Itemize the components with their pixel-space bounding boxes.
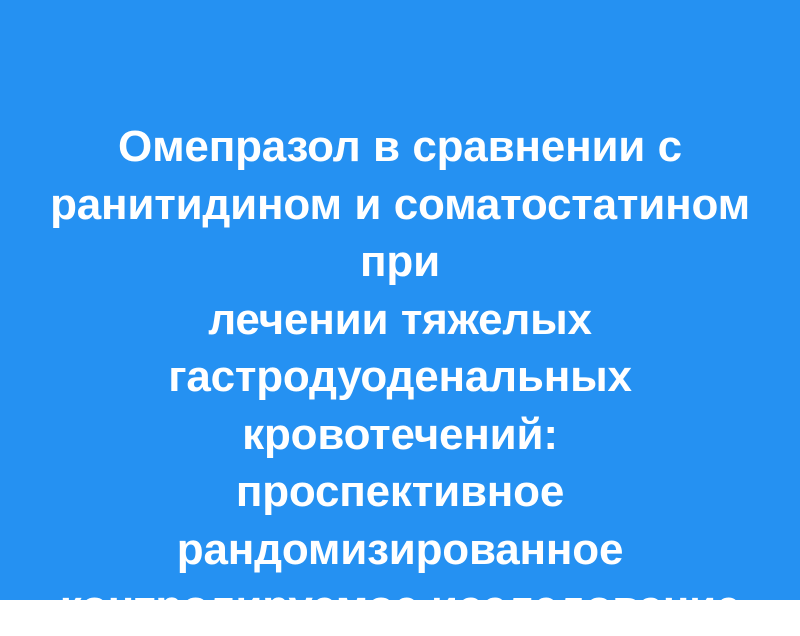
page-title: Омепразол в сравнении с ранитидином и со… — [30, 118, 770, 636]
title-slide: Омепразол в сравнении с ранитидином и со… — [0, 0, 800, 600]
title-block: Омепразол в сравнении с ранитидином и со… — [0, 118, 800, 636]
